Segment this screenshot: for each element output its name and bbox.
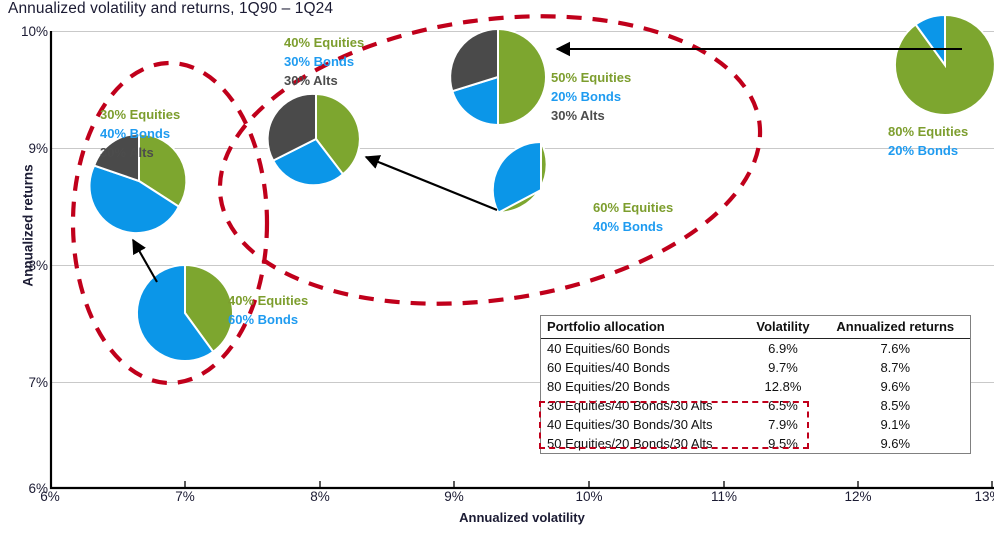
cell-allocation: 40 Equities/30 Bonds/30 Alts [541, 415, 745, 434]
chart-root: Annualized volatility and returns, 1Q90 … [0, 0, 994, 537]
cell-volatility: 6.5% [745, 396, 820, 415]
label-60-40: 60% Equities 40% Bonds [593, 198, 673, 236]
pie-40-equities-30-bonds-30-alts [268, 94, 360, 185]
table-row: 40 Equities/30 Bonds/30 Alts 7.9% 9.1% [541, 415, 970, 434]
table-row: 40 Equities/60 Bonds 6.9% 7.6% [541, 339, 970, 359]
cell-returns: 8.5% [821, 396, 970, 415]
cell-allocation: 40 Equities/60 Bonds [541, 339, 745, 359]
label-80-20: 80% Equities 20% Bonds [888, 122, 968, 160]
cell-volatility: 6.9% [745, 339, 820, 359]
label-50-20-30: 50% Equities 20% Bonds 30% Alts [551, 68, 631, 125]
th-portfolio-allocation: Portfolio allocation [541, 316, 745, 339]
pie-50-equities-20-bonds-30-alts [450, 29, 546, 125]
cell-volatility: 9.7% [745, 358, 820, 377]
pie-80-equities-20-bonds [895, 15, 994, 115]
cell-returns: 7.6% [821, 339, 970, 359]
arrow-40-60-to-30-40-30 [133, 240, 157, 282]
pie-60-equities-40-bonds [493, 142, 547, 213]
cell-allocation: 80 Equities/20 Bonds [541, 377, 745, 396]
th-volatility: Volatility [745, 316, 820, 339]
plot-canvas [0, 0, 994, 537]
pie-40-equities-60-bonds [137, 265, 233, 361]
table-row: 80 Equities/20 Bonds 12.8% 9.6% [541, 377, 970, 396]
cell-allocation: 60 Equities/40 Bonds [541, 358, 745, 377]
table-row: 60 Equities/40 Bonds 9.7% 8.7% [541, 358, 970, 377]
cell-returns: 9.6% [821, 377, 970, 396]
cell-allocation: 50 Equities/20 Bonds/30 Alts [541, 434, 745, 453]
cell-volatility: 7.9% [745, 415, 820, 434]
label-40-60: 40% Equities 60% Bonds [228, 291, 308, 329]
cell-volatility: 9.5% [745, 434, 820, 453]
cell-returns: 9.1% [821, 415, 970, 434]
cell-returns: 9.6% [821, 434, 970, 453]
cell-returns: 8.7% [821, 358, 970, 377]
label-40-30-30: 40% Equities 30% Bonds 30% Alts [284, 33, 364, 90]
table-header-row: Portfolio allocation Volatility Annualiz… [541, 316, 970, 339]
arrow-60-40-to-40-30-30 [366, 157, 497, 210]
cell-allocation: 30 Equities/40 Bonds/30 Alts [541, 396, 745, 415]
label-30-40-30: 30% Equities 40% Bonds 30% Alts [100, 105, 180, 162]
portfolio-allocation-table: Portfolio allocation Volatility Annualiz… [540, 315, 971, 454]
table-row: 50 Equities/20 Bonds/30 Alts 9.5% 9.6% [541, 434, 970, 453]
th-annualized-returns: Annualized returns [821, 316, 970, 339]
cell-volatility: 12.8% [745, 377, 820, 396]
table-row: 30 Equities/40 Bonds/30 Alts 6.5% 8.5% [541, 396, 970, 415]
